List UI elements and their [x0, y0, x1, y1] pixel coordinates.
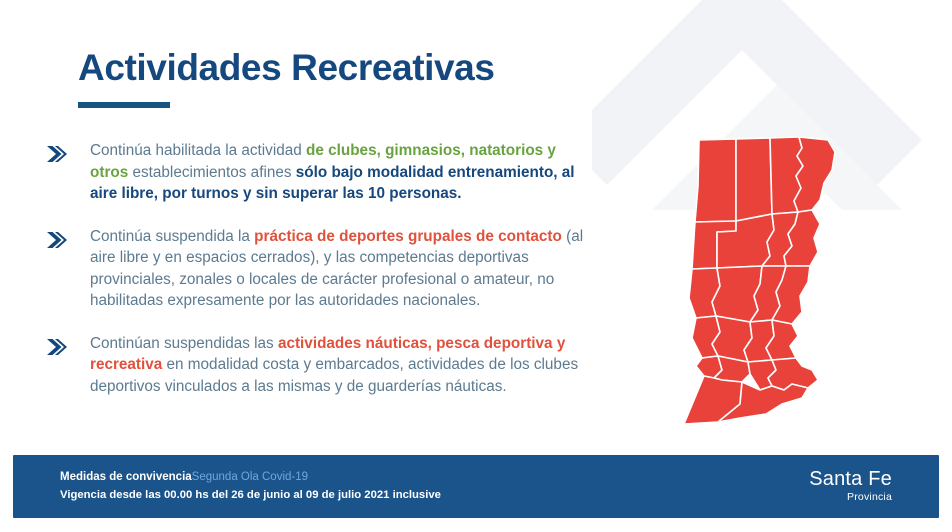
text-segment: Continúa suspendida la [90, 228, 254, 245]
list-item: Continúan suspendidas las actividades ná… [42, 333, 587, 398]
santa-fe-province-map [662, 126, 882, 438]
text-segment: establecimientos afines [128, 164, 296, 181]
text-segment: en modalidad costa y embarcados, activid… [90, 356, 578, 395]
list-item-text: Continúa suspendida la práctica de depor… [90, 226, 587, 312]
logo-main-text: Santa Fe [809, 468, 892, 490]
footer-headline: Medidas de convivenciaSegunda Ola Covid-… [60, 469, 441, 485]
list-item-text: Continúa habilitada la actividad de club… [90, 140, 587, 205]
list-item: Continúa suspendida la práctica de depor… [42, 226, 587, 312]
chevron-right-icon [44, 337, 70, 357]
chevron-right-icon [44, 230, 70, 250]
title-underline-rule [78, 102, 170, 108]
bullet-list: Continúa habilitada la actividad de club… [42, 140, 587, 397]
logo-sub-text: Provincia [809, 491, 892, 504]
map-svg [662, 126, 882, 438]
map-region [736, 138, 772, 221]
list-item: Continúa habilitada la actividad de club… [42, 140, 587, 205]
footer-text-block: Medidas de convivenciaSegunda Ola Covid-… [60, 469, 441, 503]
footer-validity-text: Vigencia desde las 00.00 hs del 26 de ju… [60, 487, 441, 503]
map-region [695, 139, 736, 222]
santa-fe-logo: Santa Fe Provincia [809, 468, 892, 504]
footer-headline-strong: Medidas de convivencia [60, 471, 192, 483]
footer-bar: Medidas de convivenciaSegunda Ola Covid-… [13, 455, 939, 518]
text-segment: Continúan suspendidas las [90, 335, 278, 352]
chevron-right-icon [44, 144, 70, 164]
slide-canvas: Actividades Recreativas Continúa habilit… [0, 0, 952, 532]
title-block: Actividades Recreativas [78, 46, 638, 108]
text-segment: Continúa habilitada la actividad [90, 142, 306, 159]
text-segment-highlight: práctica de deportes grupales de contact… [254, 228, 562, 245]
footer-headline-sub: Segunda Ola Covid-19 [192, 471, 308, 483]
page-title: Actividades Recreativas [78, 46, 638, 90]
list-item-text: Continúan suspendidas las actividades ná… [90, 333, 587, 398]
